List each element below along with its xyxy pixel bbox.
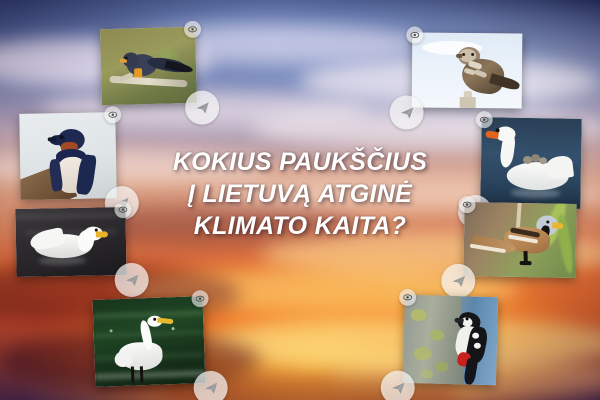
bird-photo-red-footed-falcon — [100, 27, 197, 105]
bird-card-mute-swan[interactable] — [480, 117, 582, 209]
telegram-send-icon[interactable] — [389, 95, 423, 129]
bird-card-bearded-reedling[interactable] — [463, 202, 576, 278]
bird-photo-great-egret — [93, 296, 206, 387]
bird-photo-barn-swallow — [19, 112, 116, 200]
bird-photo-mute-swan — [480, 117, 582, 209]
bird-photo-common-buzzard — [412, 33, 523, 109]
bird-card-great-egret[interactable] — [93, 296, 206, 387]
poster-canvas: KOKIUS PAUKŠČIUS Į LIETUVĄ ATGINĖ KLIMAT… — [0, 0, 600, 400]
bird-card-red-footed-falcon[interactable] — [100, 27, 197, 105]
bird-card-barn-swallow[interactable] — [19, 112, 116, 200]
bird-photo-whooper-swan — [15, 207, 126, 277]
bird-card-common-buzzard[interactable] — [412, 33, 523, 109]
eye-icon[interactable] — [406, 26, 423, 43]
bird-card-whooper-swan[interactable] — [15, 207, 126, 277]
bird-photo-bearded-reedling — [463, 202, 576, 278]
bird-photo-great-spotted-woodpecker — [403, 295, 498, 385]
bird-card-great-spotted-woodpecker[interactable] — [403, 295, 498, 385]
